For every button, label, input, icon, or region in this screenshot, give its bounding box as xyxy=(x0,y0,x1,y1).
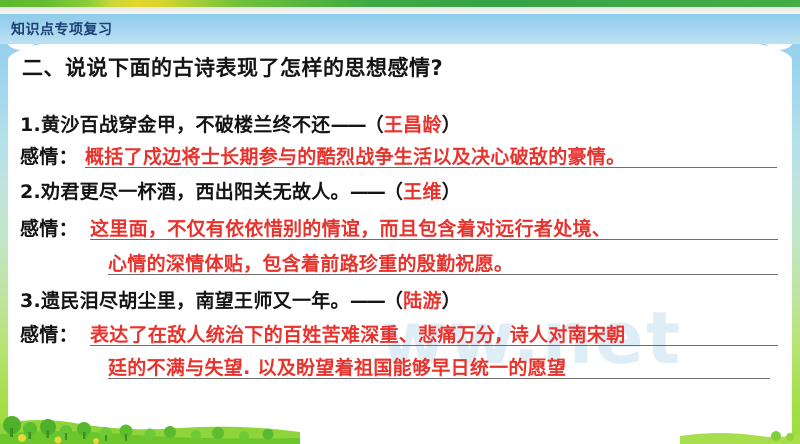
feeling-label-text-1: 感情： xyxy=(20,146,78,168)
answer-rule-3-1 xyxy=(90,345,778,346)
poem-text-2: 劝君更尽一杯酒，西出阳关无故人。 xyxy=(41,181,350,203)
paren-open-3: （ xyxy=(384,290,403,312)
foliage-decoration-right-icon xyxy=(680,418,800,444)
feeling-label-2: 感情： xyxy=(20,214,78,241)
slide-root: 知识点专项复习 ww.net 二、说说下面的古诗表现了怎样的思想感情? 1.黄沙… xyxy=(0,0,800,444)
poem-text-1: 黄沙百战穿金甲，不破楼兰终不还 xyxy=(41,114,331,136)
answer-rule-3-2 xyxy=(108,378,770,379)
poem-text-3: 遗民泪尽胡尘里，南望王师又一年。 xyxy=(41,290,350,312)
poem-author-1: 王昌龄 xyxy=(384,114,442,136)
feeling-label-text-2: 感情： xyxy=(20,218,78,240)
answer-rule-1-1 xyxy=(85,167,777,168)
slide-content: 二、说说下面的古诗表现了怎样的思想感情? 1.黄沙百战穿金甲，不破楼兰终不还——… xyxy=(0,0,800,444)
answer-text-2-2: 心情的深情体贴，包含着前路珍重的殷勤祝愿。 xyxy=(108,249,513,276)
poem-dash-3: —— xyxy=(350,290,384,312)
poem-author-2: 王维 xyxy=(403,181,442,203)
paren-open-1: （ xyxy=(365,114,384,136)
feeling-label-3: 感情： xyxy=(20,320,78,347)
answer-text-3-1: 表达了在敌人统治下的百姓苦难深重、悲痛万分, 诗人对南宋朝 xyxy=(90,320,626,347)
answer-text-3-2: 廷的不满与失望. 以及盼望着祖国能够早日统一的愿望 xyxy=(108,353,566,380)
poem-line-2: 2.劝君更尽一杯酒，西出阳关无故人。——（王维） xyxy=(20,177,461,204)
poem-author-3: 陆游 xyxy=(403,290,442,312)
poem-dash-2: —— xyxy=(350,181,384,203)
feeling-label-text-3: 感情： xyxy=(20,324,78,346)
paren-close-3: ） xyxy=(442,290,461,312)
answer-rule-2-1 xyxy=(90,239,778,240)
answer-rule-2-2 xyxy=(108,274,778,275)
feeling-label-1: 感情： xyxy=(20,142,78,169)
answer-text-2-1: 这里面，不仅有依依惜别的情谊，而且包含着对远行者处境、 xyxy=(90,214,611,241)
header-title: 知识点专项复习 xyxy=(11,19,113,39)
paren-close-1: ） xyxy=(442,114,461,136)
poem-line-3: 3.遗民泪尽胡尘里，南望王师又一年。——（陆游） xyxy=(20,286,461,313)
poem-dash-1: —— xyxy=(331,114,365,136)
foliage-decoration-icon xyxy=(0,398,300,444)
poem-line-1: 1.黄沙百战穿金甲，不破楼兰终不还——（王昌龄） xyxy=(20,110,461,137)
item-number-2: 2. xyxy=(20,181,41,203)
paren-close-2: ） xyxy=(442,181,461,203)
answer-text-1-1: 概括了戍边将士长期参与的酷烈战争生活以及决心破敌的豪情。 xyxy=(85,142,625,169)
item-number-3: 3. xyxy=(20,290,41,312)
item-number-1: 1. xyxy=(20,114,41,136)
paren-open-2: （ xyxy=(384,181,403,203)
page-title: 二、说说下面的古诗表现了怎样的思想感情? xyxy=(22,52,443,82)
